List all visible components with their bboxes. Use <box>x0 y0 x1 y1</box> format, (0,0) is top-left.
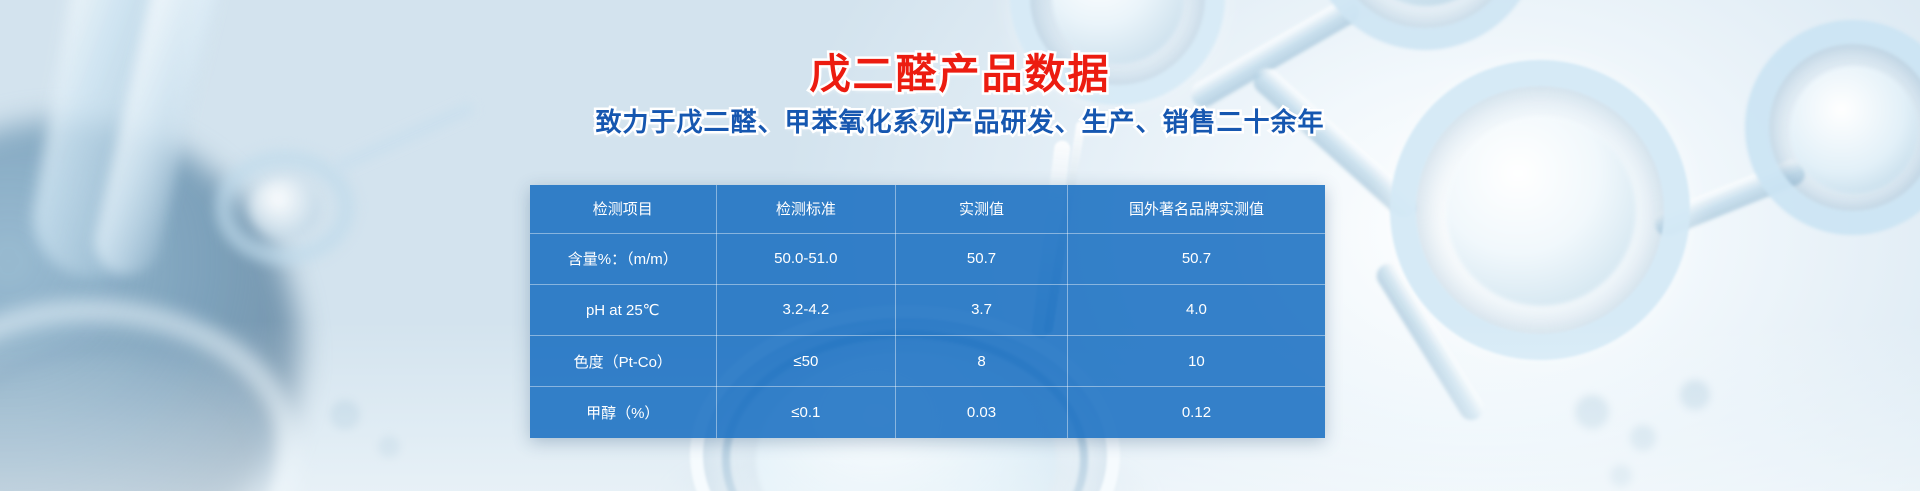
banner-content: 戊二醛产品数据 致力于戊二醛、甲苯氧化系列产品研发、生产、销售二十余年 检测项目… <box>0 0 1920 491</box>
cell-test-item: 甲醇（%） <box>530 387 716 438</box>
table-head: 检测项目 检测标准 实测值 国外著名品牌实测值 <box>530 185 1325 233</box>
cell-test-standard: 50.0-51.0 <box>716 233 896 284</box>
cell-test-item: 含量%：（m/m） <box>530 233 716 284</box>
cell-foreign-brand: 50.7 <box>1067 233 1325 284</box>
column-header-test-item: 检测项目 <box>530 185 716 233</box>
cell-foreign-brand: 0.12 <box>1067 387 1325 438</box>
cell-measured-value: 0.03 <box>896 387 1068 438</box>
title-block: 戊二醛产品数据 致力于戊二醛、甲苯氧化系列产品研发、生产、销售二十余年 <box>0 50 1920 139</box>
column-header-measured-value: 实测值 <box>896 185 1068 233</box>
page-title: 戊二醛产品数据 <box>810 50 1111 98</box>
cell-measured-value: 50.7 <box>896 233 1068 284</box>
product-data-banner: 戊二醛产品数据 致力于戊二醛、甲苯氧化系列产品研发、生产、销售二十余年 检测项目… <box>0 0 1920 491</box>
cell-test-standard: ≤0.1 <box>716 387 896 438</box>
cell-foreign-brand: 10 <box>1067 336 1325 387</box>
table-row: 甲醇（%） ≤0.1 0.03 0.12 <box>530 387 1325 438</box>
table-body: 含量%：（m/m） 50.0-51.0 50.7 50.7 pH at 25℃ … <box>530 233 1325 438</box>
table-row: pH at 25℃ 3.2-4.2 3.7 4.0 <box>530 284 1325 335</box>
page-subtitle: 致力于戊二醛、甲苯氧化系列产品研发、生产、销售二十余年 <box>595 107 1324 138</box>
cell-test-standard: 3.2-4.2 <box>716 284 896 335</box>
column-header-test-standard: 检测标准 <box>716 185 896 233</box>
product-spec-table: 检测项目 检测标准 实测值 国外著名品牌实测值 含量%：（m/m） 50.0-5… <box>530 185 1325 438</box>
table-header-row: 检测项目 检测标准 实测值 国外著名品牌实测值 <box>530 185 1325 233</box>
cell-test-standard: ≤50 <box>716 336 896 387</box>
table-row: 含量%：（m/m） 50.0-51.0 50.7 50.7 <box>530 233 1325 284</box>
cell-measured-value: 3.7 <box>896 284 1068 335</box>
cell-measured-value: 8 <box>896 336 1068 387</box>
cell-test-item: 色度（Pt-Co） <box>530 336 716 387</box>
cell-foreign-brand: 4.0 <box>1067 284 1325 335</box>
cell-test-item: pH at 25℃ <box>530 284 716 335</box>
column-header-foreign-brand: 国外著名品牌实测值 <box>1067 185 1325 233</box>
table-row: 色度（Pt-Co） ≤50 8 10 <box>530 336 1325 387</box>
spec-table-panel: 检测项目 检测标准 实测值 国外著名品牌实测值 含量%：（m/m） 50.0-5… <box>530 185 1325 438</box>
